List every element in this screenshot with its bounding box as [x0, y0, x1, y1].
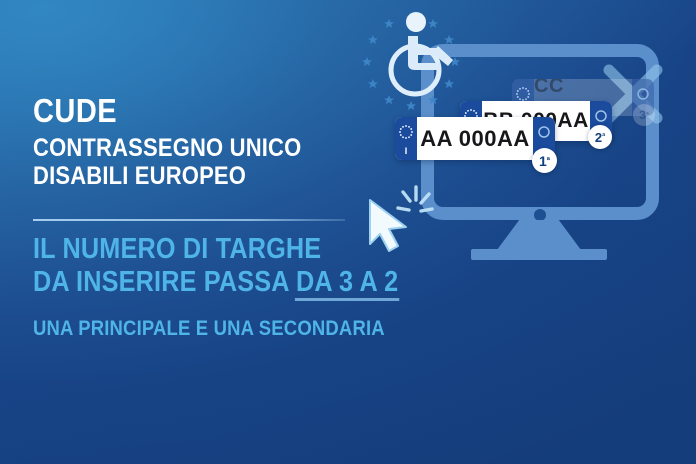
badge-number: 2 — [595, 130, 602, 145]
headline-block: IL NUMERO DI TARGHE DA INSERIRE PASSA DA… — [33, 234, 503, 297]
plate-order-badge-2: 2ª — [588, 125, 612, 149]
title-divider — [33, 219, 345, 221]
badge-ordinal: ª — [602, 133, 605, 141]
headline-line-2-prefix: DA INSERIRE PASSA — [33, 266, 296, 298]
badge-number: 1 — [539, 153, 547, 169]
monitor-power-dot — [534, 209, 546, 221]
badge-number: 3 — [639, 108, 646, 122]
headline-line-1: IL NUMERO DI TARGHE — [33, 234, 442, 264]
plate-order-badge-3: 3ª — [633, 104, 655, 126]
title-block: CUDE CONTRASSEGNO UNICO DISABILI EUROPEO — [33, 94, 453, 189]
infographic-canvas: CC 000AA 3ª BB 000AA — [0, 0, 696, 464]
badge-ordinal: ª — [547, 156, 550, 165]
page-title-expansion-line2: DISABILI EUROPEO — [33, 163, 403, 189]
page-title-acronym: CUDE — [33, 94, 403, 128]
plate-order-badge-1: 1ª — [532, 148, 557, 173]
headline-line-2: DA INSERIRE PASSA DA 3 A 2 — [33, 267, 442, 297]
tagline-text: UNA PRINCIPALE E UNA SECONDARIA — [33, 317, 385, 340]
badge-ordinal: ª — [646, 111, 649, 118]
wheelchair-head — [406, 12, 426, 32]
click-sparkle-rays — [398, 187, 432, 211]
headline-emphasis: DA 3 A 2 — [296, 267, 398, 297]
page-title-expansion-line1: CONTRASSEGNO UNICO — [33, 135, 403, 161]
